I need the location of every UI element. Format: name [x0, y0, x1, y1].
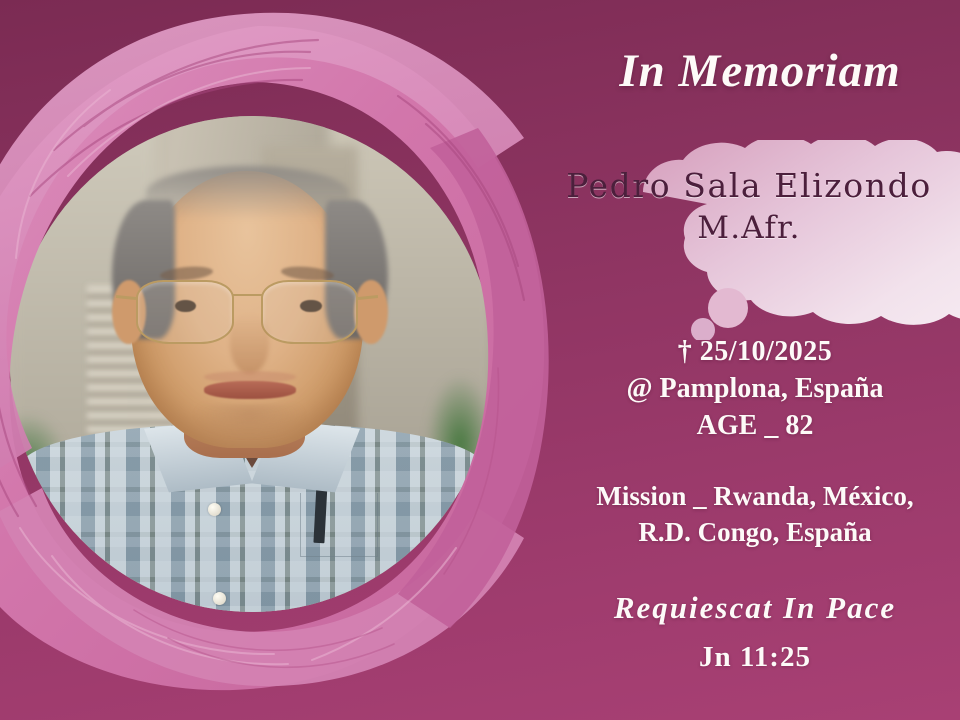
deceased-full-name: Pedro Sala Elizondo [525, 164, 960, 208]
death-place: @ Pamplona, España [530, 370, 960, 407]
deceased-society: M.Afr. [525, 208, 960, 249]
page-title: In Memoriam [530, 44, 960, 98]
death-date: † 25/10/2025 [530, 333, 960, 370]
age-at-death: AGE _ 82 [530, 407, 960, 444]
memorial-text-column: In Memoriam Pedro Sala Elizo [530, 0, 960, 720]
scripture-reference: Jn 11:25 [530, 641, 960, 674]
mission-line-2: R.D. Congo, España [530, 514, 960, 550]
mission-details: Mission _ Rwanda, México, R.D. Congo, Es… [530, 478, 960, 551]
mission-line-1: Mission _ Rwanda, México, [530, 478, 960, 514]
death-details: † 25/10/2025 @ Pamplona, España AGE _ 82 [530, 333, 960, 445]
memorial-card: In Memoriam Pedro Sala Elizo [0, 0, 960, 720]
brush-ring-decoration [0, 8, 568, 708]
deceased-name: Pedro Sala Elizondo M.Afr. [525, 164, 960, 248]
portrait-frame [0, 8, 568, 708]
name-thought-bubble: Pedro Sala Elizondo M.Afr. [525, 140, 960, 340]
requiescat-in-pace: Requiescat In Pace [530, 590, 960, 626]
